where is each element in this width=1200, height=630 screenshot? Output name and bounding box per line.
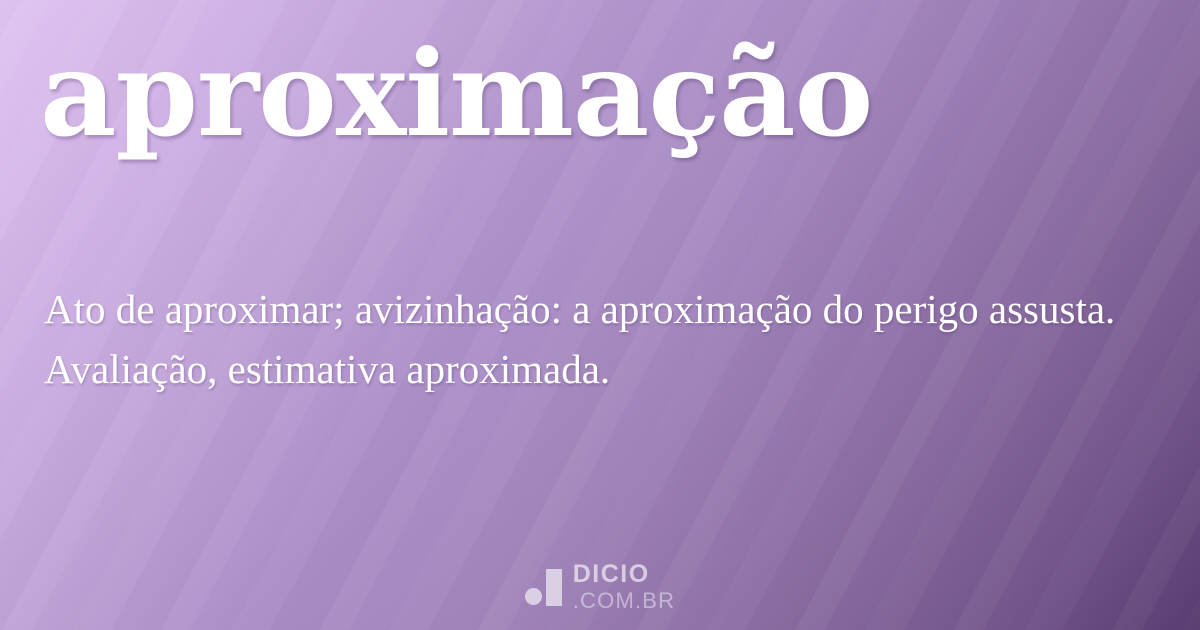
- headword: aproximação: [40, 28, 872, 160]
- logo-site-name: DICIO: [573, 562, 676, 587]
- logo-mark-icon: [525, 567, 563, 607]
- definition-item: Avaliação, estimativa aproximada.: [44, 339, 1154, 399]
- bar-icon: [546, 569, 562, 606]
- logo-site-tld: .COM.BR: [573, 590, 676, 612]
- definition-list: Ato de aproximar; avizinhação: a aproxim…: [44, 279, 1154, 399]
- logo-wordmark: DICIO .COM.BR: [573, 562, 676, 612]
- site-logo[interactable]: DICIO .COM.BR: [0, 562, 1200, 612]
- circle-icon: [525, 588, 542, 605]
- definition-item: Ato de aproximar; avizinhação: a aproxim…: [44, 279, 1154, 339]
- dictionary-definition-card: aproximação Ato de aproximar; avizinhaçã…: [0, 0, 1200, 630]
- card-content: aproximação Ato de aproximar; avizinhaçã…: [0, 0, 1200, 630]
